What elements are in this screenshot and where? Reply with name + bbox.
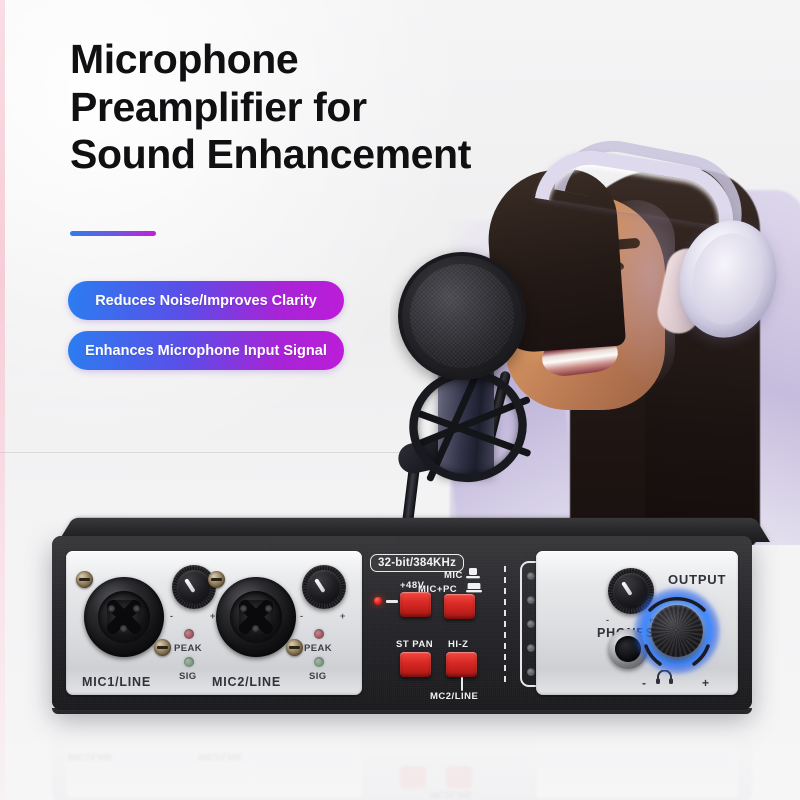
sig-led-1 bbox=[184, 657, 194, 667]
vu-led-left bbox=[527, 596, 535, 604]
gain-knob-1-cap bbox=[177, 570, 211, 604]
mic-speaker-icon bbox=[466, 568, 480, 579]
reflection-right-panel bbox=[536, 732, 738, 798]
reflection-body bbox=[52, 718, 752, 800]
headline-line-2: Preamplifier for bbox=[70, 84, 610, 132]
gain-2-min-mark: - bbox=[300, 611, 303, 621]
mic1-line-label: MIC1/LINE bbox=[82, 675, 151, 689]
hi-z-button[interactable] bbox=[446, 652, 477, 677]
pop-filter-mesh bbox=[410, 264, 514, 368]
peak-led-2 bbox=[314, 629, 324, 639]
sig-label-1: SIG bbox=[179, 671, 197, 682]
panel-screw bbox=[154, 639, 171, 656]
output-label: OUTPUT bbox=[668, 572, 726, 587]
input-panel: - + PEAK SIG MIC1/LINE bbox=[66, 551, 362, 695]
feature-badge-list: Reduces Noise/Improves Clarity Enhances … bbox=[68, 281, 344, 381]
peak-led-1 bbox=[184, 629, 194, 639]
gain-knob-1[interactable] bbox=[172, 565, 216, 609]
mic-pc-button[interactable] bbox=[444, 594, 475, 619]
page-title: Microphone Preamplifier for Sound Enhanc… bbox=[70, 36, 610, 179]
panel-screw bbox=[208, 571, 225, 588]
reflection-mc2-label: MC2/LINE bbox=[430, 790, 472, 800]
xlr-pin bbox=[120, 625, 127, 632]
hi-z-label: HI-Z bbox=[448, 639, 468, 650]
feature-badge-1: Reduces Noise/Improves Clarity bbox=[68, 281, 344, 320]
headline-line-1: Microphone bbox=[70, 36, 610, 84]
xlr-jack-1[interactable] bbox=[84, 577, 164, 657]
mc2-line-label: MC2/LINE bbox=[430, 691, 478, 702]
vu-led-left bbox=[527, 644, 535, 652]
gain-knob-2-pointer bbox=[314, 578, 325, 592]
panel-screw bbox=[76, 571, 93, 588]
device-reflection: MIC1/LINE MIC2/LINE MC2/LINE bbox=[52, 718, 752, 800]
xlr-pin bbox=[265, 605, 272, 612]
laptop-icon bbox=[466, 583, 482, 593]
hi-z-connector-line bbox=[461, 677, 463, 691]
output-knob-ticks bbox=[630, 584, 724, 678]
phantom-power-button[interactable] bbox=[400, 592, 431, 617]
gain-knob-2-cap bbox=[307, 570, 341, 604]
left-edge-stripe bbox=[0, 0, 5, 800]
peak-label-2: PEAK bbox=[304, 643, 332, 654]
sig-label-2: SIG bbox=[309, 671, 327, 682]
reflection-mic2-label: MIC2/LINE bbox=[198, 752, 243, 762]
device-front-panel: - + PEAK SIG MIC1/LINE bbox=[52, 536, 752, 710]
phantom-connector-line bbox=[386, 600, 398, 603]
xlr-pin bbox=[108, 605, 115, 612]
reflection-mic1-label: MIC1/LINE bbox=[68, 752, 113, 762]
panel-screw bbox=[286, 639, 303, 656]
reflection-button bbox=[446, 766, 472, 788]
product-banner: Microphone Preamplifier for Sound Enhanc… bbox=[0, 0, 800, 800]
gain-knob-1-pointer bbox=[184, 578, 195, 592]
xlr-pin bbox=[252, 625, 259, 632]
vu-led-left bbox=[527, 572, 535, 580]
xlr-pin bbox=[133, 605, 140, 612]
reflection-left-panel bbox=[66, 732, 362, 798]
mic-mode-label: MIC bbox=[444, 570, 463, 581]
vu-led-left bbox=[527, 668, 535, 676]
xlr-jack-2[interactable] bbox=[216, 577, 296, 657]
stereo-pan-button[interactable] bbox=[400, 652, 431, 677]
output-max-mark: + bbox=[702, 676, 709, 690]
xlr-pin bbox=[240, 605, 247, 612]
gain-knob-2[interactable] bbox=[302, 565, 346, 609]
section-divider bbox=[504, 566, 506, 682]
headline-line-3: Sound Enhancement bbox=[70, 131, 610, 179]
vu-led-left bbox=[527, 620, 535, 628]
gain-1-max-mark: + bbox=[210, 611, 215, 621]
output-min-mark: - bbox=[642, 676, 646, 690]
accent-divider bbox=[70, 231, 156, 236]
phantom-power-led bbox=[374, 597, 382, 605]
gain-1-min-mark: - bbox=[170, 611, 173, 621]
mic2-line-label: MIC2/LINE bbox=[212, 675, 281, 689]
st-pan-label: ST PAN bbox=[396, 639, 433, 650]
gain-2-max-mark: + bbox=[340, 611, 345, 621]
sig-led-2 bbox=[314, 657, 324, 667]
reflection-button bbox=[400, 766, 426, 788]
peak-label-1: PEAK bbox=[174, 643, 202, 654]
xlr-jack-2-inner bbox=[230, 591, 282, 643]
xlr-jack-1-inner bbox=[98, 591, 150, 643]
feature-badge-2: Enhances Microphone Input Signal bbox=[68, 331, 344, 370]
phones-min-mark: - bbox=[606, 615, 609, 625]
